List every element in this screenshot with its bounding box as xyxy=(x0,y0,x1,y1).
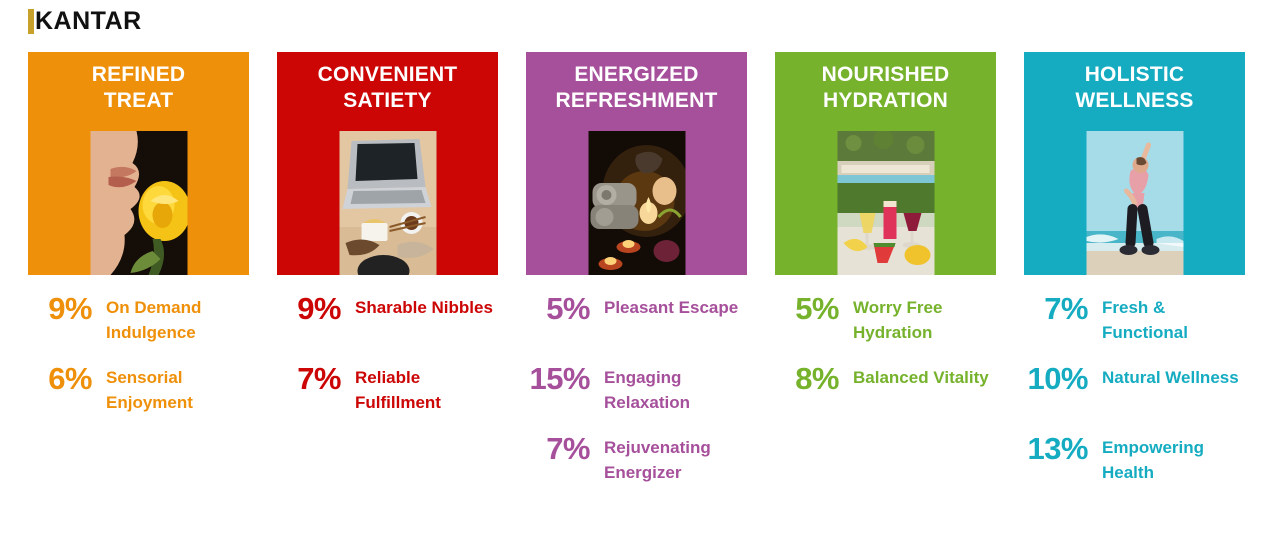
card-title-line1: ENERGIZED xyxy=(530,62,743,88)
column-energized-refreshment: ENERGIZED REFRESHMENT xyxy=(526,52,747,501)
stat-label: Empowering Health xyxy=(1102,431,1242,485)
stat-percent: 9% xyxy=(277,291,355,327)
stat-percent: 5% xyxy=(526,291,604,327)
card-title-line1: NOURISHED xyxy=(779,62,992,88)
stat-row: 6% Sensorial Enjoyment xyxy=(28,361,249,415)
stat-row: 13% Empowering Health xyxy=(1024,431,1245,485)
stats-convenient-satiety: 9% Sharable Nibbles 7% Reliable Fulfillm… xyxy=(277,275,498,431)
column-convenient-satiety: CONVENIENT SATIETY xyxy=(277,52,498,501)
stat-row: 7% Fresh & Functional xyxy=(1024,291,1245,345)
stats-refined-treat: 9% On Demand Indulgence 6% Sensorial Enj… xyxy=(28,275,249,431)
stats-holistic-wellness: 7% Fresh & Functional 10% Natural Wellne… xyxy=(1024,275,1245,501)
stat-row: 8% Balanced Vitality xyxy=(775,361,996,415)
need-states-board: REFINED TREAT 9% xyxy=(28,52,1255,501)
stat-row: 9% Sharable Nibbles xyxy=(277,291,498,345)
stats-nourished-hydration: 5% Worry Free Hydration 8% Balanced Vita… xyxy=(775,275,996,431)
logo-accent-bar xyxy=(28,9,34,34)
kantar-logo: KANTAR xyxy=(28,6,142,36)
stat-percent: 10% xyxy=(1024,361,1102,397)
stat-label: Sensorial Enjoyment xyxy=(106,361,246,415)
card-title: REFINED TREAT xyxy=(28,52,249,114)
stat-percent: 9% xyxy=(28,291,106,327)
stat-label: Engaging Relaxation xyxy=(604,361,744,415)
stat-label: Rejuvenating Energizer xyxy=(604,431,744,485)
card-title: CONVENIENT SATIETY xyxy=(277,52,498,114)
card-title-line2: WELLNESS xyxy=(1028,88,1241,114)
stat-percent: 7% xyxy=(526,431,604,467)
stat-row: 5% Pleasant Escape xyxy=(526,291,747,345)
stat-percent: 15% xyxy=(526,361,604,397)
card-title-line1: HOLISTIC xyxy=(1028,62,1241,88)
stat-label: Natural Wellness xyxy=(1102,361,1239,390)
stat-row: 7% Reliable Fulfillment xyxy=(277,361,498,415)
card-nourished-hydration: NOURISHED HYDRATION xyxy=(775,52,996,275)
stat-percent: 7% xyxy=(1024,291,1102,327)
stat-label: Worry Free Hydration xyxy=(853,291,993,345)
spa-towels-candles-photo xyxy=(588,131,685,275)
card-refined-treat: REFINED TREAT xyxy=(28,52,249,275)
stat-percent: 6% xyxy=(28,361,106,397)
laptop-desk-takeout-meal-photo xyxy=(339,131,436,275)
stat-label: Fresh & Functional xyxy=(1102,291,1242,345)
column-holistic-wellness: HOLISTIC WELLNESS xyxy=(1024,52,1245,501)
column-refined-treat: REFINED TREAT 9% xyxy=(28,52,249,501)
card-holistic-wellness: HOLISTIC WELLNESS xyxy=(1024,52,1245,275)
stat-row: 7% Rejuvenating Energizer xyxy=(526,431,747,485)
stat-row: 9% On Demand Indulgence xyxy=(28,291,249,345)
stat-percent: 7% xyxy=(277,361,355,397)
card-title-line1: REFINED xyxy=(32,62,245,88)
woman-smelling-yellow-rose-photo xyxy=(90,131,187,275)
woman-stretching-on-beach-photo xyxy=(1086,131,1183,275)
card-convenient-satiety: CONVENIENT SATIETY xyxy=(277,52,498,275)
stat-row: 10% Natural Wellness xyxy=(1024,361,1245,415)
card-title-line2: SATIETY xyxy=(281,88,494,114)
card-title-line1: CONVENIENT xyxy=(281,62,494,88)
stat-label: On Demand Indulgence xyxy=(106,291,246,345)
stat-label: Pleasant Escape xyxy=(604,291,738,320)
poolside-fruit-drinks-photo xyxy=(837,131,934,275)
stat-percent: 8% xyxy=(775,361,853,397)
stat-label: Reliable Fulfillment xyxy=(355,361,495,415)
card-title-line2: HYDRATION xyxy=(779,88,992,114)
stat-label: Balanced Vitality xyxy=(853,361,989,390)
card-title: NOURISHED HYDRATION xyxy=(775,52,996,114)
stat-label: Sharable Nibbles xyxy=(355,291,493,320)
stat-row: 15% Engaging Relaxation xyxy=(526,361,747,415)
stat-row: 5% Worry Free Hydration xyxy=(775,291,996,345)
column-nourished-hydration: NOURISHED HYDRATION xyxy=(775,52,996,501)
stats-energized-refreshment: 5% Pleasant Escape 15% Engaging Relaxati… xyxy=(526,275,747,501)
stat-percent: 5% xyxy=(775,291,853,327)
card-title: HOLISTIC WELLNESS xyxy=(1024,52,1245,114)
card-title-line2: TREAT xyxy=(32,88,245,114)
logo-wordmark: KANTAR xyxy=(35,9,142,34)
card-title-line2: REFRESHMENT xyxy=(530,88,743,114)
card-title: ENERGIZED REFRESHMENT xyxy=(526,52,747,114)
stat-percent: 13% xyxy=(1024,431,1102,467)
card-energized-refreshment: ENERGIZED REFRESHMENT xyxy=(526,52,747,275)
